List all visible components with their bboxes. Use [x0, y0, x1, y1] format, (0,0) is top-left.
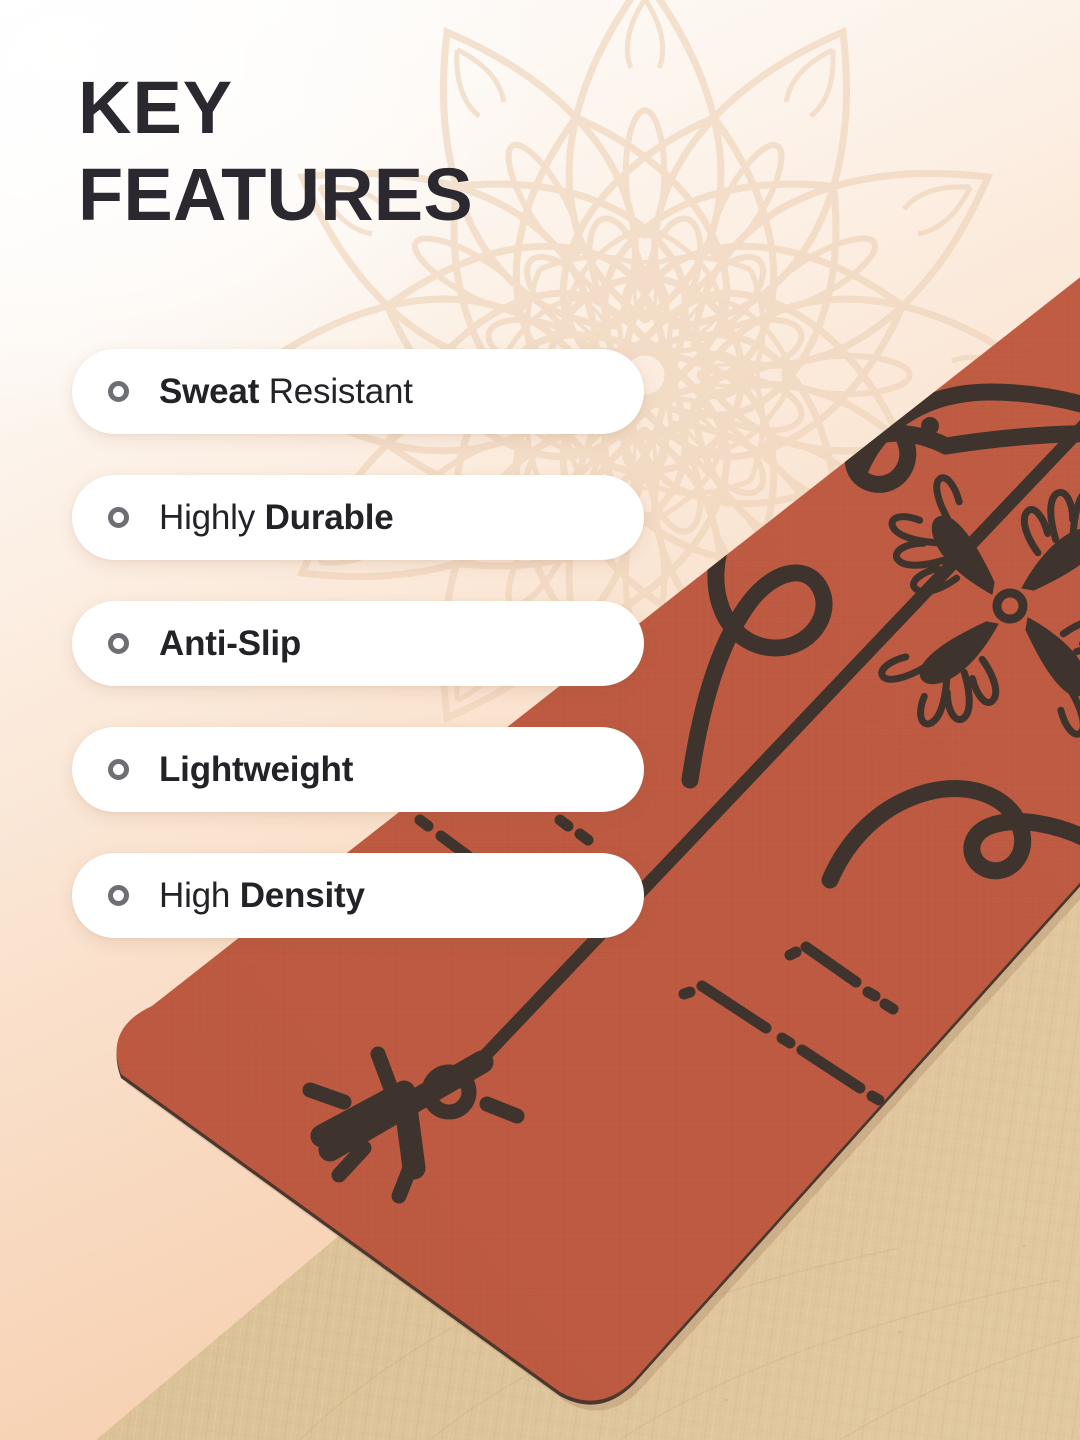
- feature-label-strong: Durable: [265, 498, 394, 537]
- ring-bullet-icon: [108, 633, 129, 654]
- feature-pill[interactable]: Lightweight: [72, 727, 644, 812]
- feature-label-strong: Anti-Slip: [159, 624, 301, 663]
- feature-pill[interactable]: Anti-Slip: [72, 601, 644, 686]
- title-line-1: KEY: [78, 72, 698, 145]
- feature-pill-label: Highly Durable: [159, 500, 394, 535]
- title-line-2: FEATURES: [78, 159, 698, 232]
- ring-bullet-icon: [108, 381, 129, 402]
- feature-pill-label: High Density: [159, 878, 365, 913]
- feature-pill[interactable]: High Density: [72, 853, 644, 938]
- ring-bullet-icon: [108, 759, 129, 780]
- feature-label-strong: Lightweight: [159, 750, 353, 789]
- page-title: KEY FEATURES: [78, 72, 698, 231]
- feature-pill[interactable]: Sweat Resistant: [72, 349, 644, 434]
- feature-label-strong: Density: [240, 876, 365, 915]
- feature-label-normal: High: [159, 876, 230, 915]
- feature-label-normal: Resistant: [269, 372, 413, 411]
- feature-pill-label: Lightweight: [159, 752, 353, 787]
- feature-list: Sweat ResistantHighly DurableAnti-SlipLi…: [72, 349, 644, 938]
- feature-label-strong: Sweat: [159, 372, 259, 411]
- feature-pill-label: Anti-Slip: [159, 626, 301, 661]
- ring-bullet-icon: [108, 885, 129, 906]
- feature-pill-label: Sweat Resistant: [159, 374, 413, 409]
- feature-pill[interactable]: Highly Durable: [72, 475, 644, 560]
- ring-bullet-icon: [108, 507, 129, 528]
- feature-label-normal: Highly: [159, 498, 255, 537]
- poster-canvas: KEY FEATURES Sweat ResistantHighly Durab…: [0, 0, 1080, 1440]
